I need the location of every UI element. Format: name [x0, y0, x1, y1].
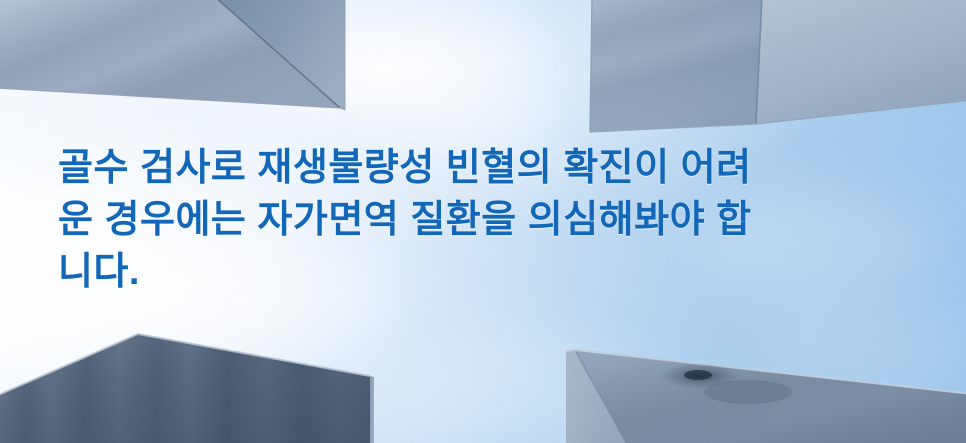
concrete-block-top-right	[580, 0, 966, 142]
caption-line-1: 골수 검사로 재생불량성 빈혈의 확진이 어려	[58, 142, 944, 194]
concrete-block-top-right-faces	[580, 0, 966, 142]
caption-overlay: 골수 검사로 재생불량성 빈혈의 확진이 어려 운 경우에는 자가면역 질환을 …	[58, 142, 944, 298]
concrete-stain-trail	[704, 380, 792, 404]
caption-image: 골수 검사로 재생불량성 빈혈의 확진이 어려 운 경우에는 자가면역 질환을 …	[0, 0, 966, 443]
concrete-block-bottom-left-faces	[0, 330, 374, 443]
concrete-block-bottom-right-faces	[566, 340, 966, 443]
concrete-block-top-left-faces	[0, 0, 356, 120]
concrete-block-bottom-right	[566, 340, 966, 443]
concrete-block-top-left	[0, 0, 356, 120]
caption-line-3: 니다.	[58, 246, 944, 298]
concrete-stain-core	[684, 370, 712, 380]
concrete-block-bottom-left	[0, 330, 374, 443]
caption-line-2: 운 경우에는 자가면역 질환을 의심해봐야 합	[58, 194, 944, 246]
